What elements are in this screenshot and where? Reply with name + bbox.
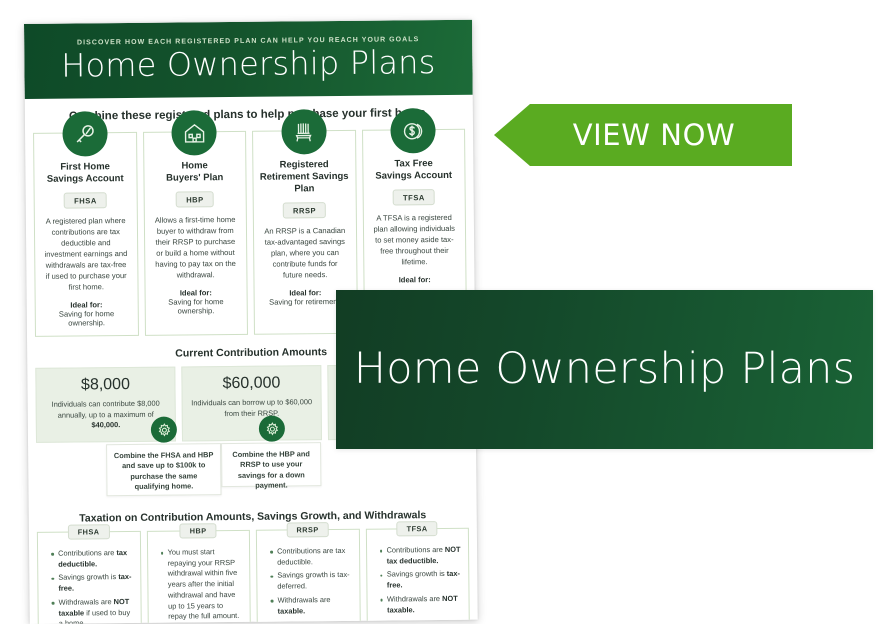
contribution-amount: $60,000	[189, 374, 313, 395]
item-text: Contributions are	[387, 545, 445, 555]
item-text: Savings growth is	[58, 572, 118, 582]
view-now-button[interactable]: VIEW NOW	[494, 104, 792, 166]
house-icon	[172, 110, 217, 155]
overlay-title: Home Ownership Plans	[354, 343, 856, 395]
list-item: Contributions are tax deductible.	[272, 546, 353, 568]
plan-description: A registered plan where contributions ar…	[41, 215, 131, 293]
plan-description: Allows a first-time home buyer to withdr…	[150, 214, 240, 281]
contribution-text: Individuals can borrow up to $60,000 fro…	[190, 398, 314, 420]
contribution-text: Individuals can contribute $8,000 annual…	[44, 399, 168, 432]
combine-callout: Combine the FHSA and HBP and save up to …	[106, 443, 221, 496]
item-text: Contributions are	[58, 548, 116, 558]
taxation-badge: HBP	[180, 523, 217, 538]
list-item: Savings growth is tax-free.	[382, 569, 463, 591]
key-icon	[62, 111, 107, 156]
plan-badge: TFSA	[393, 189, 435, 205]
taxation-list: Contributions are tax deductible. Saving…	[263, 546, 353, 617]
list-item: Withdrawals are NOT taxable.	[382, 594, 463, 616]
plan-name: RegisteredRetirement SavingsPlan	[259, 159, 349, 196]
taxation-badge: TFSA	[397, 521, 438, 536]
item-text: Withdrawals are	[387, 594, 442, 604]
plan-ideal-value: Saving for home ownership.	[151, 297, 241, 316]
plan-name: HomeBuyers' Plan	[150, 160, 240, 185]
list-item: Savings growth is tax-free.	[53, 572, 134, 594]
plan-badge: FHSA	[64, 193, 107, 209]
contribution-text-bold: $40,000.	[91, 420, 120, 429]
plan-card-fhsa[interactable]: First HomeSavings Account FHSA A registe…	[33, 132, 138, 337]
plan-description: A TFSA is a registered plan allowing ind…	[369, 212, 459, 268]
view-now-label: VIEW NOW	[551, 118, 736, 152]
taxation-list: You must start repaying your RRSP withdr…	[154, 547, 244, 624]
item-text: Savings growth is	[387, 569, 447, 579]
list-item: Contributions are NOT tax deductible.	[382, 545, 463, 567]
taxation-badge: FHSA	[68, 524, 110, 539]
plan-ideal-value: Saving for home ownership.	[42, 309, 132, 328]
taxation-badge: RRSP	[286, 522, 328, 537]
contribution-card-hbp: $60,000 Individuals can borrow up to $60…	[181, 365, 322, 441]
hero-title: Home Ownership Plans	[24, 44, 472, 86]
contribution-text-lead: Individuals can contribute $8,000 annual…	[52, 399, 160, 419]
taxation-list: Contributions are tax deductible. Saving…	[44, 548, 134, 624]
plan-name: Tax FreeSavings Account	[369, 158, 459, 183]
list-item: Withdrawals are NOT taxable if used to b…	[54, 597, 135, 624]
plan-badge: HBP	[176, 191, 214, 207]
plan-description: An RRSP is a Canadian tax-advantaged sav…	[260, 225, 350, 281]
hero-banner: DISCOVER HOW EACH REGISTERED PLAN CAN HE…	[24, 20, 473, 99]
plan-name: First HomeSavings Account	[40, 161, 130, 186]
chair-icon	[281, 109, 326, 154]
list-item: Contributions are tax deductible.	[53, 548, 134, 570]
combine-callout: Combine the HBP and RRSP to use your sav…	[221, 442, 321, 487]
plan-ideal-label: Ideal for:	[370, 275, 460, 285]
item-text: Withdrawals are	[277, 595, 330, 605]
contribution-amount: $8,000	[43, 375, 167, 396]
plan-badge: RRSP	[283, 203, 326, 219]
item-bold: taxable.	[278, 606, 306, 615]
title-overlay-panel: Home Ownership Plans	[336, 290, 873, 449]
dollar-coin-icon	[391, 108, 436, 153]
plan-card-hbp[interactable]: HomeBuyers' Plan HBP Allows a first-time…	[143, 131, 248, 336]
list-item: Savings growth is tax-deferred.	[272, 570, 353, 592]
list-item: You must start repaying your RRSP withdr…	[163, 547, 244, 623]
list-item: Withdrawals are taxable.	[272, 595, 353, 617]
taxation-list: Contributions are NOT tax deductible. Sa…	[373, 545, 463, 616]
item-text: Withdrawals are	[59, 597, 114, 607]
